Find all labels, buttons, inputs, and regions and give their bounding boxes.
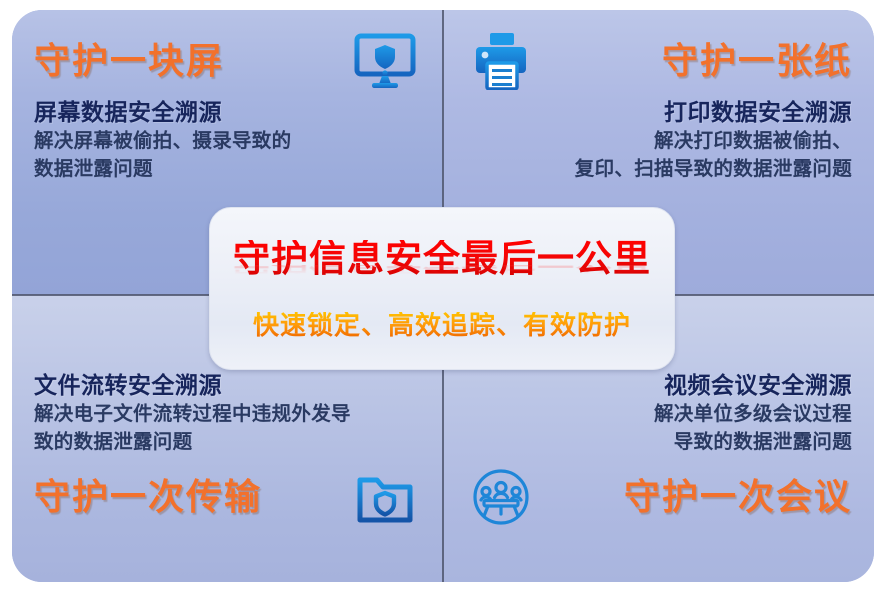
screen-header-row: 守护一块屏	[34, 24, 421, 98]
meeting-desc-line-1: 解决单位多级会议过程	[465, 400, 852, 428]
meeting-slogan: 守护一次会议	[551, 477, 852, 517]
meeting-headline: 视频会议安全溯源	[465, 371, 852, 400]
screen-desc-line-2: 数据泄露问题	[34, 155, 421, 183]
file-transfer-footer-row: 守护一次传输	[34, 462, 421, 532]
center-callout-card: 守护信息安全最后一公里 守护信息安全最后一公里 快速锁定、高效追踪、有效防护	[209, 207, 675, 370]
print-slogan-wrap: 守护一张纸	[549, 41, 852, 81]
meeting-slogan-wrap: 守护一次会议	[551, 477, 852, 517]
monitor-shield-icon	[349, 30, 421, 92]
screen-slogan-wrap: 守护一块屏	[34, 41, 337, 81]
meeting-description: 解决单位多级会议过程 导致的数据泄露问题	[465, 400, 852, 457]
meeting-footer-row: 守护一次会议	[465, 462, 852, 532]
screen-text-block: 屏幕数据安全溯源 解决屏幕被偷拍、摄录导致的 数据泄露问题	[34, 98, 421, 183]
print-desc-line-1: 解决打印数据被偷拍、	[465, 127, 852, 155]
infographic-canvas: 守护一块屏	[0, 0, 886, 605]
print-text-block: 打印数据安全溯源 解决打印数据被偷拍、 复印、扫描导致的数据泄露问题	[465, 98, 852, 183]
screen-slogan: 守护一块屏	[34, 41, 337, 81]
screen-desc-line-1: 解决屏幕被偷拍、摄录导致的	[34, 127, 421, 155]
meeting-desc-line-2: 导致的数据泄露问题	[465, 428, 852, 456]
file-transfer-slogan-wrap: 守护一次传输	[34, 477, 335, 517]
file-transfer-slogan: 守护一次传输	[34, 477, 335, 517]
screen-headline: 屏幕数据安全溯源	[34, 98, 421, 127]
file-transfer-description: 解决电子文件流转过程中违规外发导 致的数据泄露问题	[34, 400, 421, 457]
print-header-row: 守护一张纸	[465, 24, 852, 98]
screen-description: 解决屏幕被偷拍、摄录导致的 数据泄露问题	[34, 127, 421, 184]
print-description: 解决打印数据被偷拍、 复印、扫描导致的数据泄露问题	[465, 127, 852, 184]
center-title-reflection: 守护信息安全最后一公里	[233, 265, 651, 276]
file-transfer-desc-line-1: 解决电子文件流转过程中违规外发导	[34, 400, 421, 428]
folder-shield-icon	[349, 466, 421, 528]
print-slogan: 守护一张纸	[549, 41, 852, 81]
meeting-text-block: 视频会议安全溯源 解决单位多级会议过程 导致的数据泄露问题	[465, 371, 852, 456]
meeting-people-icon	[465, 466, 537, 528]
print-headline: 打印数据安全溯源	[465, 98, 852, 127]
printer-icon	[465, 30, 537, 92]
file-transfer-headline: 文件流转安全溯源	[34, 371, 421, 400]
file-transfer-desc-line-2: 致的数据泄露问题	[34, 428, 421, 456]
file-transfer-text-block: 文件流转安全溯源 解决电子文件流转过程中违规外发导 致的数据泄露问题	[34, 371, 421, 456]
print-desc-line-2: 复印、扫描导致的数据泄露问题	[465, 155, 852, 183]
center-subtitle: 快速锁定、高效追踪、有效防护	[253, 312, 631, 338]
